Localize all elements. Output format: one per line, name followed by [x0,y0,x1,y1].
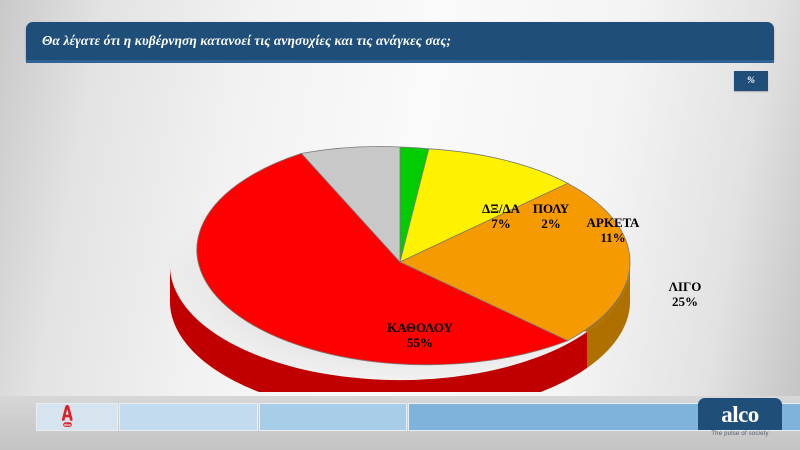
page-title: Θα λέγατε ότι η κυβέρνηση κατανοεί τις α… [42,22,764,60]
svg-text:alco: alco [64,423,70,427]
slice-label-arketa-name: ΑΡΚΕΤΑ [571,216,655,231]
slice-label-katholou-value: 55% [350,336,490,351]
alco-a-mark-icon: alco [55,404,81,430]
slice-label-ligo-name: ΛΙΓΟ [650,280,720,295]
slice-label-ligo: ΛΙΓΟ 25% [650,280,720,310]
header-bar: Θα λέγατε ότι η κυβέρνηση κατανοεί τις α… [26,22,774,60]
header-underline [26,60,774,63]
slice-label-katholou: ΚΑΘΟΛΟΥ 55% [350,321,490,351]
alco-tagline: The pulse of society [698,431,782,437]
percent-unit-label: % [747,76,755,86]
footer-segment-2 [119,403,258,431]
alco-wordmark: alco [721,403,759,426]
footer-segment-3 [259,403,407,431]
slice-label-ligo-value: 25% [650,295,720,310]
alco-logo: alco [698,398,782,430]
pie-chart: ΔΞ/ΔΑ 7% ΠΟΛΥ 2% ΑΡΚΕΤΑ 11% ΛΙΓΟ 25% ΚΑΘ… [150,92,650,392]
slice-label-arketa-value: 11% [571,231,655,246]
slice-label-arketa: ΑΡΚΕΤΑ 11% [571,216,655,246]
slice-label-katholou-name: ΚΑΘΟΛΟΥ [350,321,490,336]
percent-unit-badge: % [734,71,768,91]
slice-label-poly-name: ΠΟΛΥ [521,202,581,217]
